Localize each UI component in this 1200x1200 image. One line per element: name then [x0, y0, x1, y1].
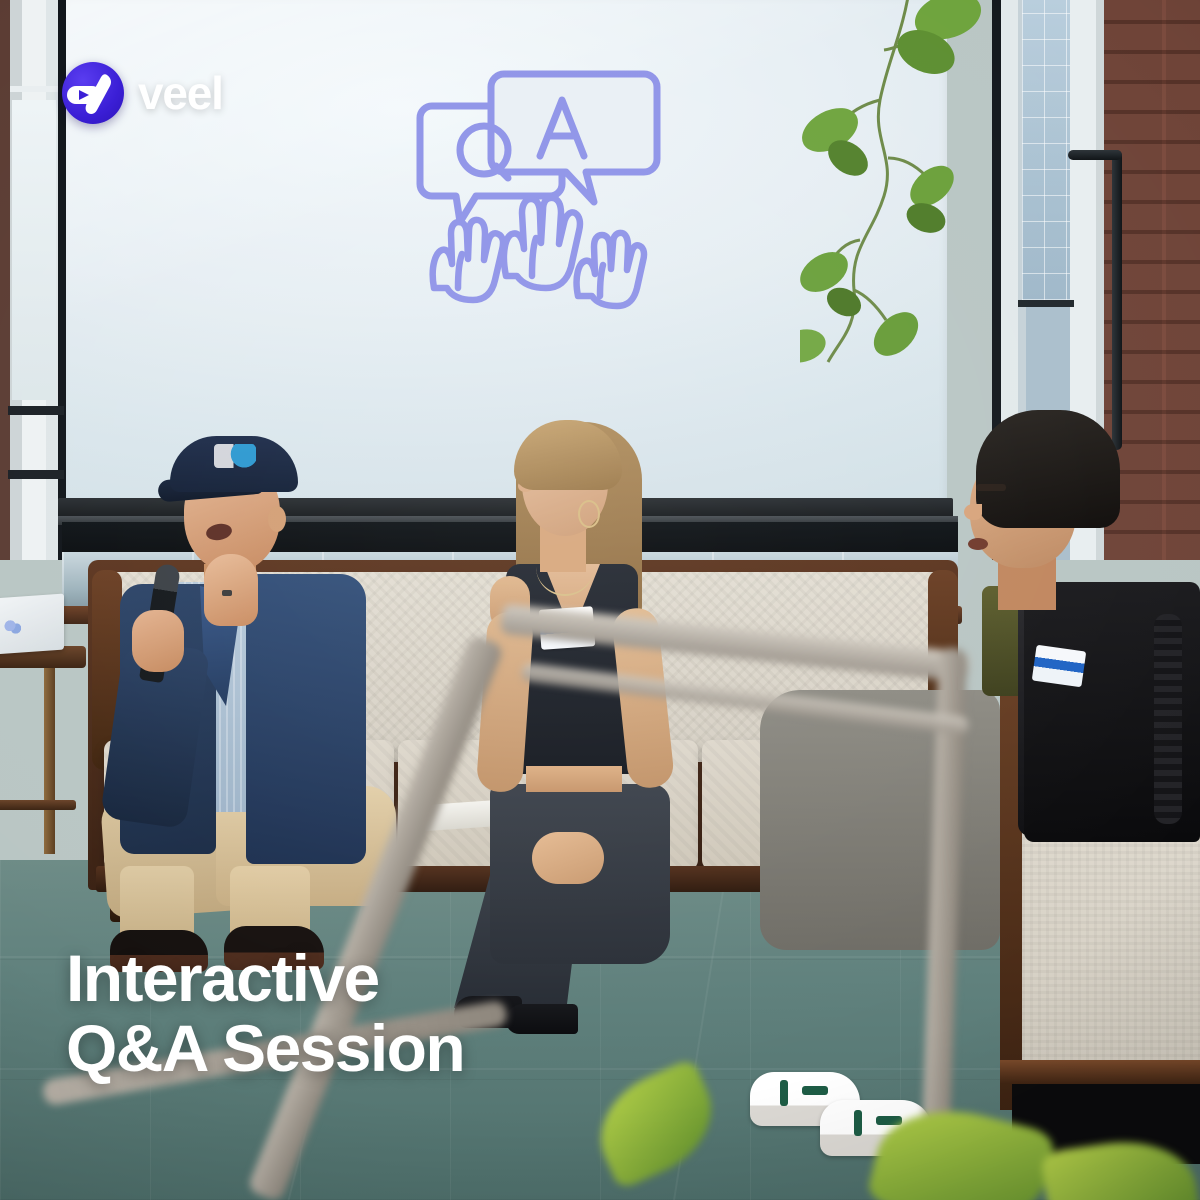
pothos-vine: [800, 0, 1040, 410]
side-table-leg: [44, 664, 55, 854]
clasped-hands: [532, 832, 604, 884]
wall-conduit-horizontal: [1068, 150, 1122, 160]
side-table-shelf: [0, 800, 76, 810]
veel-play-slash-logo-icon: [62, 62, 124, 124]
headline-line-1: Interactive: [66, 944, 464, 1014]
cap-logo-icon: [214, 444, 256, 468]
attendee-right: [940, 400, 1200, 920]
headline: Interactive Q&A Session: [66, 944, 464, 1084]
heel-right: [506, 1004, 578, 1034]
event-photo-card: veel Interactive Q&A Session: [0, 0, 1200, 1200]
left-window-sash: [10, 86, 58, 92]
brand-lockup: veel: [62, 62, 223, 124]
wood-armchair-shadow: [1012, 1084, 1200, 1164]
headline-line-2: Q&A Session: [66, 1014, 464, 1084]
name-badge: [1032, 645, 1087, 688]
qa-slide-artwork: [408, 62, 668, 312]
panelist-seated-center: [444, 416, 734, 976]
laptop-screen-graphic: [2, 618, 22, 635]
grey-trousers: [760, 690, 1000, 950]
blazer-right-panel: [246, 574, 366, 864]
hand-holding-microphone: [132, 610, 184, 672]
ring: [222, 590, 232, 596]
left-window-bar-upper: [8, 406, 64, 415]
laptop: [0, 594, 64, 655]
panelist-with-microphone: [96, 414, 416, 944]
veel-wordmark: veel: [138, 70, 223, 116]
wood-armchair-rail: [1000, 1060, 1200, 1084]
left-window-glass: [12, 100, 56, 400]
attendee-hair: [976, 410, 1120, 528]
sneaker-right: [820, 1100, 932, 1156]
hoop-earring: [578, 500, 600, 528]
left-window-bar-lower: [8, 470, 64, 479]
